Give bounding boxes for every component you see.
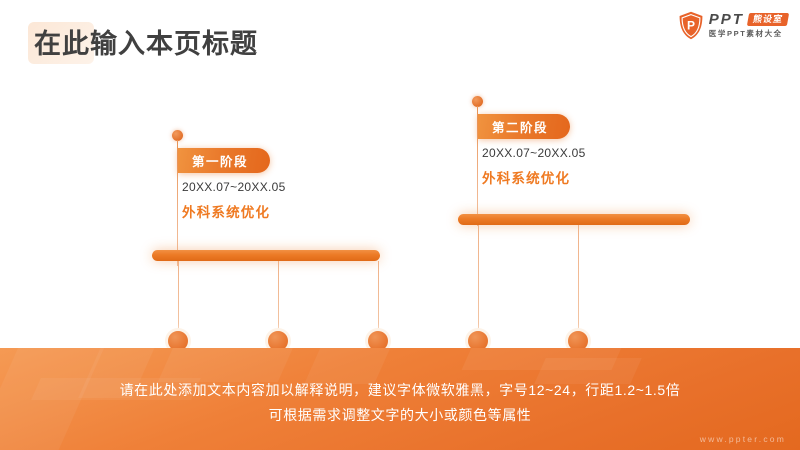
stage-description-2: 外科系统优化 [482, 167, 570, 187]
stage-date-1: 20XX.07~20XX.05 [182, 180, 286, 194]
connector-line-3 [378, 261, 379, 335]
stage-label-badge-2[interactable]: 第二阶段 [478, 114, 570, 139]
slide-canvas: 在此输入本页标题 P PPT 熊设室 医学PPT素材大全 第一阶段 20XX.0… [0, 0, 800, 450]
stage-label-badge-1[interactable]: 第一阶段 [178, 148, 270, 173]
logo-primary-row: PPT 熊设室 [709, 12, 788, 27]
svg-text:P: P [687, 18, 695, 32]
logo-tagline: 医学PPT素材大全 [709, 30, 788, 38]
stage-description-1: 外科系统优化 [182, 201, 270, 221]
footer-line-1: 请在此处添加文本内容加以解释说明，建议字体微软雅黑，字号12~24，行距1.2~… [120, 382, 681, 398]
connector-line-4 [478, 225, 479, 335]
brand-logo: P PPT 熊设室 医学PPT素材大全 [678, 8, 788, 42]
logo-text: PPT 熊设室 医学PPT素材大全 [709, 12, 788, 38]
stage-bar-2 [458, 214, 690, 225]
page-title: 在此输入本页标题 [34, 24, 258, 64]
bottom-orange-band: 请在此处添加文本内容加以解释说明，建议字体微软雅黑，字号12~24，行距1.2~… [0, 348, 800, 450]
stage-bar-1 [152, 250, 380, 261]
connector-line-2 [278, 261, 279, 335]
stage-date-2: 20XX.07~20XX.05 [482, 146, 586, 160]
logo-brand-text: PPT [709, 12, 744, 27]
connector-line-1 [178, 261, 179, 335]
footer-line-2: 可根据需求调整文字的大小或颜色等属性 [0, 403, 800, 428]
band-texture-streak [158, 348, 298, 382]
logo-badge: 熊设室 [747, 13, 789, 26]
footer-description: 请在此处添加文本内容加以解释说明，建议字体微软雅黑，字号12~24，行距1.2~… [0, 378, 800, 428]
shield-p-icon: P [678, 11, 704, 40]
watermark: www.ppter.com [700, 434, 786, 444]
connector-line-5 [578, 225, 579, 335]
